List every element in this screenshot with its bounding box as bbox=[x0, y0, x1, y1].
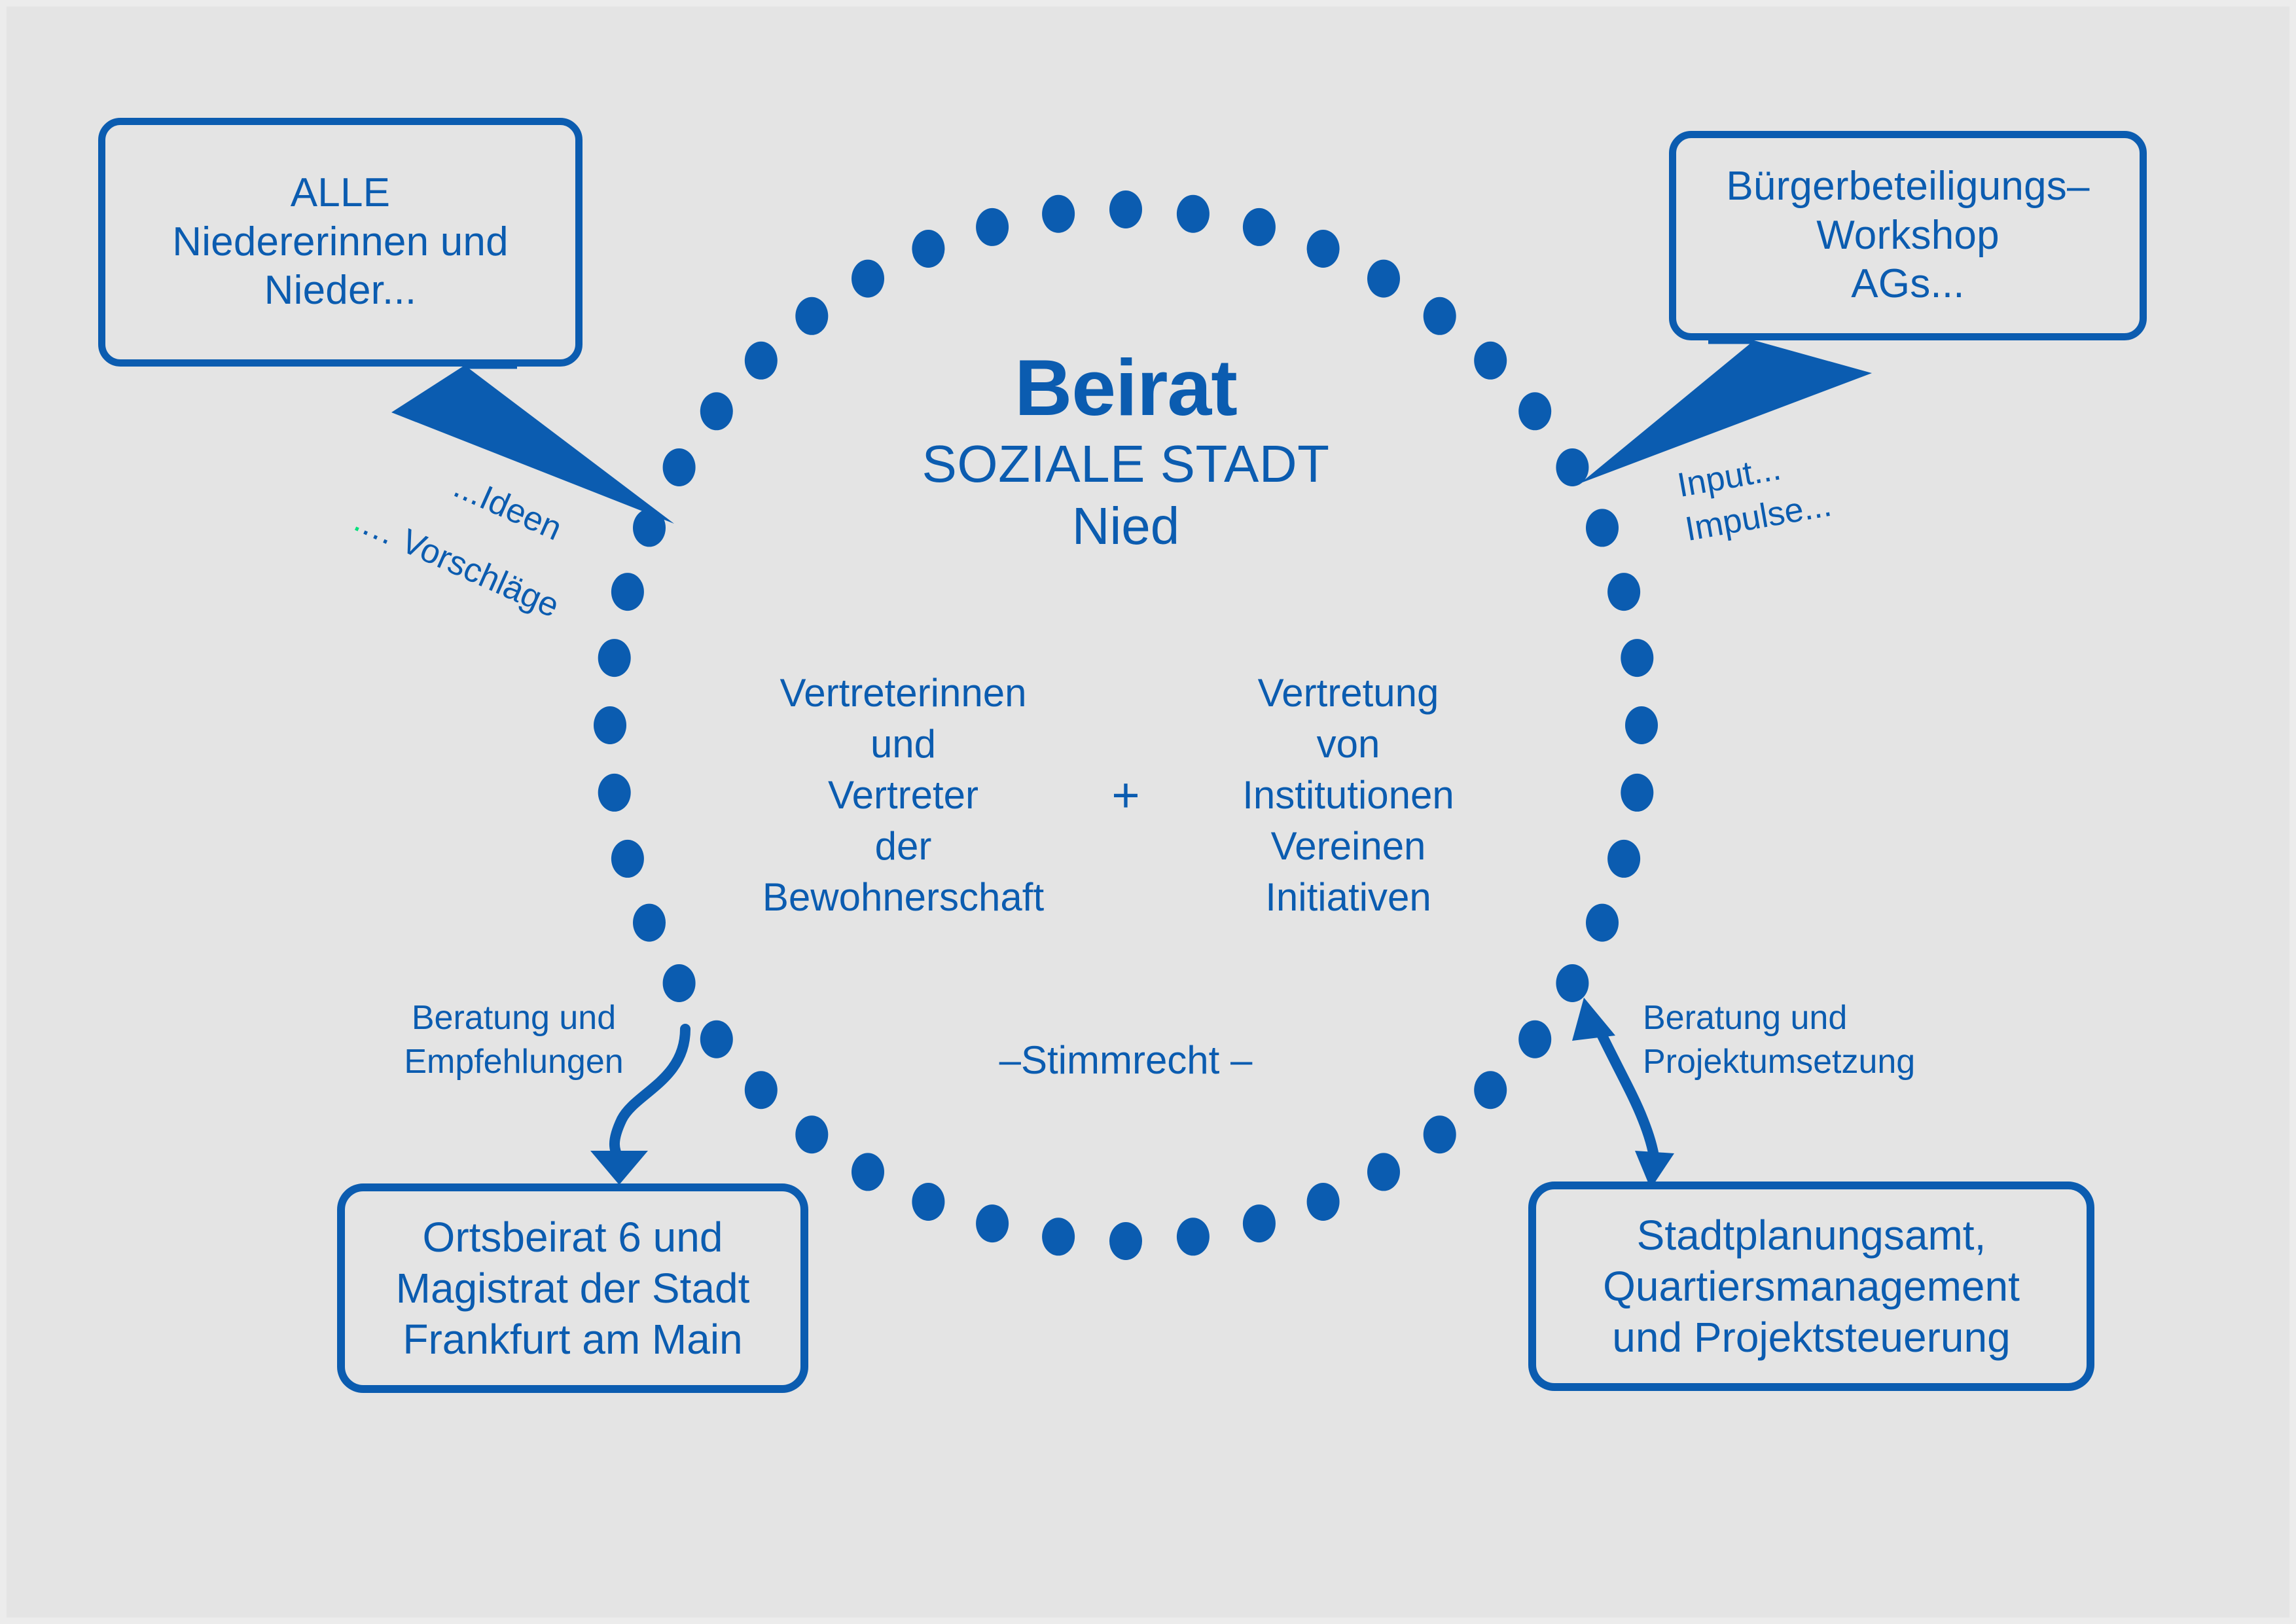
circle-dot bbox=[1556, 964, 1588, 1002]
circle-dot bbox=[912, 1183, 944, 1221]
circle-dot bbox=[594, 706, 626, 744]
circle-dot bbox=[1307, 230, 1340, 268]
circle-dot bbox=[663, 964, 696, 1002]
annotation-ideen: ...Ideen bbox=[447, 465, 569, 551]
annotation-beratung-empfehlungen: Beratung und Empfehlungen bbox=[373, 996, 655, 1083]
circle-dot bbox=[852, 260, 884, 298]
circle-dot bbox=[1042, 195, 1075, 233]
box-ortsbeirat-magistrat[interactable]: Ortsbeirat 6 und Magistrat der Stadt Fra… bbox=[337, 1183, 808, 1393]
circle-dot bbox=[1367, 260, 1400, 298]
circle-membership-columns: Vertreterinnen und Vertreter der Bewohne… bbox=[661, 668, 1590, 923]
circle-dot bbox=[1424, 1115, 1456, 1153]
circle-dot bbox=[1621, 774, 1653, 812]
circle-dot bbox=[852, 1153, 884, 1191]
circle-dot bbox=[1042, 1218, 1075, 1255]
circle-dot bbox=[1243, 1204, 1276, 1242]
circle-dot bbox=[1625, 706, 1658, 744]
speech-bubble-right[interactable]: Bürgerbeteiligungs– Workshop AGs... bbox=[1669, 131, 2147, 340]
circle-center-heading: Beirat SOZIALE STADT Nied bbox=[635, 347, 1617, 557]
circle-dot bbox=[1177, 195, 1210, 233]
circle-dot bbox=[1367, 1153, 1400, 1191]
subtitle-line-2: Nied bbox=[635, 496, 1617, 557]
annotation-input-impulse: Input... Impulse... bbox=[1674, 439, 1835, 552]
circle-dot bbox=[1607, 840, 1640, 878]
circle-dot bbox=[912, 230, 944, 268]
page-title: Beirat bbox=[635, 347, 1617, 428]
box-stadtplanungsamt-text: Stadtplanungsamt, Quartiersmanagement un… bbox=[1603, 1210, 2020, 1363]
box-stadtplanungsamt[interactable]: Stadtplanungsamt, Quartiersmanagement un… bbox=[1528, 1182, 2094, 1391]
arrow-left-head bbox=[590, 1151, 648, 1185]
membership-column-institutions: Vertretung von Institutionen Vereinen In… bbox=[1165, 668, 1532, 923]
circle-dot bbox=[611, 840, 644, 878]
circle-dot bbox=[1518, 1020, 1551, 1058]
box-ortsbeirat-magistrat-text: Ortsbeirat 6 und Magistrat der Stadt Fra… bbox=[396, 1212, 750, 1365]
diagram-canvas: ALLE Niedererinnen und Nieder... Bürgerb… bbox=[0, 0, 2296, 1624]
speech-bubble-right-text: Bürgerbeteiligungs– Workshop AGs... bbox=[1726, 162, 2089, 308]
circle-dot bbox=[976, 208, 1009, 246]
circle-dot bbox=[1243, 208, 1276, 246]
subtitle-line-1: SOZIALE STADT bbox=[635, 433, 1617, 495]
circle-dot bbox=[611, 573, 644, 611]
voting-rights-note: –Stimmrecht – bbox=[759, 1038, 1492, 1083]
circle-dot bbox=[700, 1020, 733, 1058]
circle-dot bbox=[598, 774, 631, 812]
circle-dot bbox=[598, 639, 631, 677]
circle-dot bbox=[1109, 1222, 1142, 1260]
circle-dot bbox=[1424, 297, 1456, 335]
plus-operator: + bbox=[1086, 771, 1165, 820]
circle-dot bbox=[1177, 1218, 1210, 1255]
annotation-beratung-projektumsetzung: Beratung und Projektumsetzung bbox=[1643, 996, 1957, 1083]
circle-dot bbox=[1621, 639, 1653, 677]
membership-column-residents: Vertreterinnen und Vertreter der Bewohne… bbox=[720, 668, 1086, 923]
speech-bubble-left-text: ALLE Niedererinnen und Nieder... bbox=[172, 169, 509, 315]
circle-dot bbox=[795, 297, 828, 335]
arrow-right-head-up bbox=[1572, 998, 1615, 1041]
circle-dot bbox=[1607, 573, 1640, 611]
circle-dot bbox=[795, 1115, 828, 1153]
circle-dot bbox=[1307, 1183, 1340, 1221]
circle-dot bbox=[1109, 190, 1142, 228]
circle-dot bbox=[1586, 904, 1619, 942]
circle-dot bbox=[976, 1204, 1009, 1242]
speech-bubble-left[interactable]: ALLE Niedererinnen und Nieder... bbox=[98, 118, 583, 367]
